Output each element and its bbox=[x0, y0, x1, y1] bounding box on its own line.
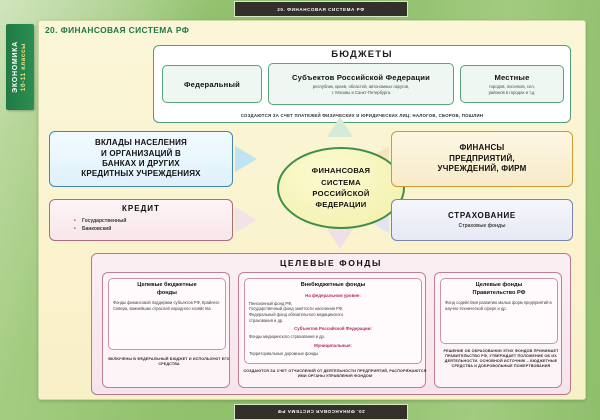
insurance-heading: СТРАХОВАНИЕ bbox=[448, 211, 516, 220]
center-ellipse: ФИНАНСОВАЯСИСТЕМАРОССИЙСКОЙФЕДЕРАЦИИ bbox=[277, 147, 405, 229]
budget-card-local-sub: городов, поселков, сел,районов в городах… bbox=[489, 84, 536, 95]
fund-card-extrabudgetary[interactable]: Внебюджетные фонды На федеральном уровне… bbox=[238, 272, 426, 388]
budgets-title: БЮДЖЕТЫ bbox=[154, 49, 570, 60]
poster-canvas: 20. ФИНАНСОВАЯ СИСТЕМА РФ ЭКОНОМИКА 10-1… bbox=[0, 0, 600, 420]
bottom-title-bar-label: 20. ФИНАНСОВАЯ СИСТЕМА РФ bbox=[277, 410, 364, 415]
budget-card-subjects-heading: Субъектов Российской Федерации bbox=[292, 73, 430, 82]
arrow-center-to-funds-icon bbox=[327, 229, 353, 249]
fund-card-budgetary-body-card: Целевые бюджетныефонды Фонды финансовой … bbox=[108, 278, 226, 350]
fund-level-municipal-body: Территориальные дорожные фонды bbox=[249, 351, 417, 357]
fund-level-subject-body: Фонды медицинского страхования и др. bbox=[249, 334, 417, 340]
budget-card-local[interactable]: Местные городов, поселков, сел,районов в… bbox=[460, 65, 564, 103]
fund-card-extrabudgetary-heading: Внебюджетные фонды bbox=[249, 282, 417, 290]
side-tab-rotated-text: ЭКОНОМИКА 10-11 классы bbox=[6, 24, 34, 110]
top-title-bar: 20. ФИНАНСОВАЯ СИСТЕМА РФ bbox=[234, 1, 408, 17]
budget-card-federal[interactable]: Федеральный bbox=[162, 65, 262, 103]
budget-card-local-heading: Местные bbox=[494, 73, 529, 82]
enterprise-finance-box[interactable]: ФИНАНСЫПРЕДПРИЯТИЙ,УЧРЕЖДЕНИЙ, ФИРМ bbox=[391, 131, 573, 187]
deposits-box[interactable]: ВКЛАДЫ НАСЕЛЕНИЯИ ОРГАНИЗАЦИЙ ВБАНКАХ И … bbox=[49, 131, 233, 187]
fund-level-federal-label: На федеральном уровне: bbox=[249, 293, 417, 298]
fund-level-subject-label: Субъектов Российской Федерации: bbox=[249, 326, 417, 331]
side-tab-subject-label: ЭКОНОМИКА bbox=[12, 41, 20, 93]
fund-card-government-heading: Целевые фондыПравительство РФ bbox=[445, 282, 553, 297]
main-panel: 20. ФИНАНСОВАЯ СИСТЕМА РФ БЮДЖЕТЫ Федера… bbox=[38, 20, 586, 400]
fund-card-extrabudgetary-note: СОЗДАЮТСЯ ЗА СЧЕТ ОТЧИСЛЕНИЙ ОТ ДЕЯТЕЛЬН… bbox=[239, 369, 431, 379]
arrow-budgets-to-center-icon bbox=[327, 117, 353, 137]
budget-card-subjects-sub: республик, краев, областей, автономных о… bbox=[313, 84, 409, 95]
side-tab-subject: ЭКОНОМИКА 10-11 классы bbox=[6, 24, 34, 110]
side-tab-grades-label: 10-11 классы bbox=[20, 43, 27, 91]
fund-level-federal-body: Пенсионный фонд РФ,Государственный фонд … bbox=[249, 301, 417, 324]
arrow-deposits-to-center-icon bbox=[235, 146, 257, 172]
target-funds-title: ЦЕЛЕВЫЕ ФОНДЫ bbox=[92, 258, 570, 268]
enterprise-finance-heading: ФИНАНСЫПРЕДПРИЯТИЙ,УЧРЕЖДЕНИЙ, ФИРМ bbox=[438, 143, 527, 175]
fund-card-government-body: Фонд содействия развитию малых форм пред… bbox=[445, 300, 553, 311]
arrow-credit-to-center-icon bbox=[235, 207, 257, 233]
fund-card-budgetary-body: Фонды финансовой поддержки субъектов РФ,… bbox=[113, 300, 221, 311]
credit-box[interactable]: КРЕДИТ Государственный Банковский bbox=[49, 199, 233, 241]
fund-card-budgetary-heading: Целевые бюджетныефонды bbox=[113, 282, 221, 297]
bottom-title-bar: 20. ФИНАНСОВАЯ СИСТЕМА РФ bbox=[234, 404, 408, 420]
budget-card-subjects[interactable]: Субъектов Российской Федерации республик… bbox=[268, 63, 454, 105]
fund-card-budgetary[interactable]: Целевые бюджетныефонды Фонды финансовой … bbox=[102, 272, 230, 388]
fund-card-government[interactable]: Целевые фондыПравительство РФ Фонд содей… bbox=[434, 272, 562, 388]
credit-bullet-item: Банковский bbox=[82, 225, 226, 233]
insurance-box[interactable]: СТРАХОВАНИЕ Страховые фонды bbox=[391, 199, 573, 241]
insurance-sub: Страховые фонды bbox=[459, 223, 506, 229]
budgets-group: БЮДЖЕТЫ Федеральный Субъектов Российской… bbox=[153, 45, 571, 123]
credit-bullet-item: Государственный bbox=[82, 217, 226, 225]
budgets-footnote: СОЗДАЮТСЯ ЗА СЧЕТ ПЛАТЕЖЕЙ ФИЗИЧЕСКИХ И … bbox=[154, 113, 570, 118]
fund-level-municipal-label: Муниципальные: bbox=[249, 343, 417, 348]
fund-card-extrabudgetary-body-card: Внебюджетные фонды На федеральном уровне… bbox=[244, 278, 422, 364]
budget-card-federal-heading: Федеральный bbox=[184, 80, 240, 89]
credit-bullet-list: Государственный Банковский bbox=[82, 217, 226, 233]
target-funds-group: ЦЕЛЕВЫЕ ФОНДЫ Целевые бюджетныефонды Фон… bbox=[91, 253, 571, 395]
top-title-bar-label: 20. ФИНАНСОВАЯ СИСТЕМА РФ bbox=[277, 7, 364, 12]
center-label: ФИНАНСОВАЯСИСТЕМАРОССИЙСКОЙФЕДЕРАЦИИ bbox=[312, 165, 371, 211]
deposits-heading: ВКЛАДЫ НАСЕЛЕНИЯИ ОРГАНИЗАЦИЙ ВБАНКАХ И … bbox=[81, 138, 200, 180]
fund-card-government-body-card: Целевые фондыПравительство РФ Фонд содей… bbox=[440, 278, 558, 344]
fund-card-budgetary-note: ВКЛЮЧЕНЫ В ФЕДЕРАЛЬНЫЙ БЮДЖЕТ И ИСПОЛЬЗУ… bbox=[103, 357, 235, 367]
page-title: 20. ФИНАНСОВАЯ СИСТЕМА РФ bbox=[45, 23, 345, 37]
credit-heading: КРЕДИТ bbox=[56, 204, 226, 213]
fund-card-government-note: РЕШЕНИЕ ОБ ОБРАЗОВАНИИ ЭТИХ ФОНДОВ ПРИНИ… bbox=[435, 349, 567, 369]
